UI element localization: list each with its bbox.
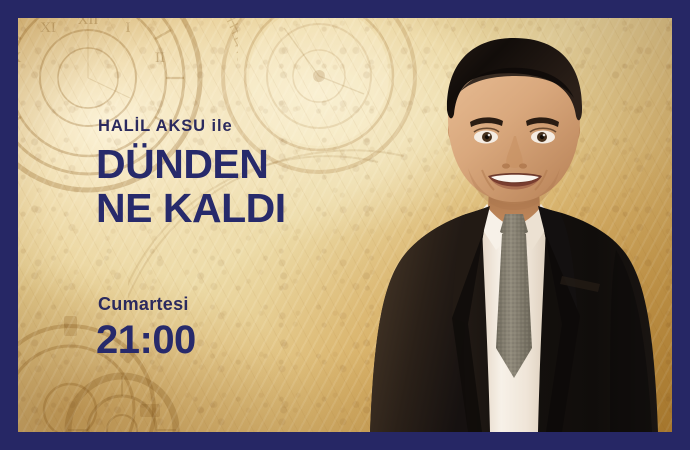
broadcast-time: 21:00 (96, 320, 196, 360)
schedule-block: Cumartesi 21:00 (96, 295, 196, 360)
program-title-block: HALİL AKSU ile DÜNDEN NE KALDI (96, 118, 396, 228)
parchment-background: XII XI X IX I II (18, 18, 672, 432)
program-title-line-1: DÜNDEN (96, 144, 396, 184)
presenter-kicker: HALİL AKSU ile (98, 118, 396, 135)
program-title-line-2: NE KALDI (96, 188, 396, 228)
tv-program-promo-poster: XII XI X IX I II (0, 0, 690, 450)
broadcast-day: Cumartesi (98, 295, 196, 313)
